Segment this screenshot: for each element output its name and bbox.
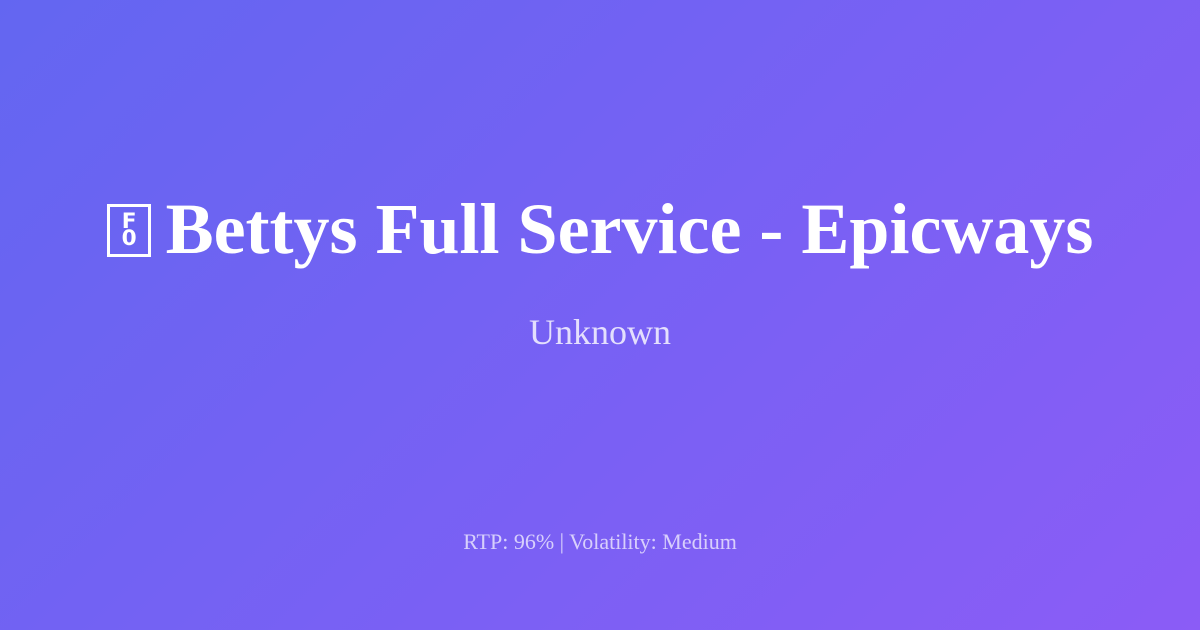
tofu-hex-bottom: 0 xyxy=(110,228,149,250)
meta-line: RTP: 96% | Volatility: Medium xyxy=(0,529,1200,555)
page-title-text: Bettys Full Service - Epicways xyxy=(166,189,1094,269)
slot-machine-icon: F0 xyxy=(107,204,152,257)
og-share-card: F0Bettys Full Service - Epicways Unknown… xyxy=(0,0,1200,630)
page-title: F0Bettys Full Service - Epicways xyxy=(107,192,1094,268)
title-block: F0Bettys Full Service - Epicways Unknown xyxy=(0,0,1200,528)
subtitle: Unknown xyxy=(529,311,671,354)
